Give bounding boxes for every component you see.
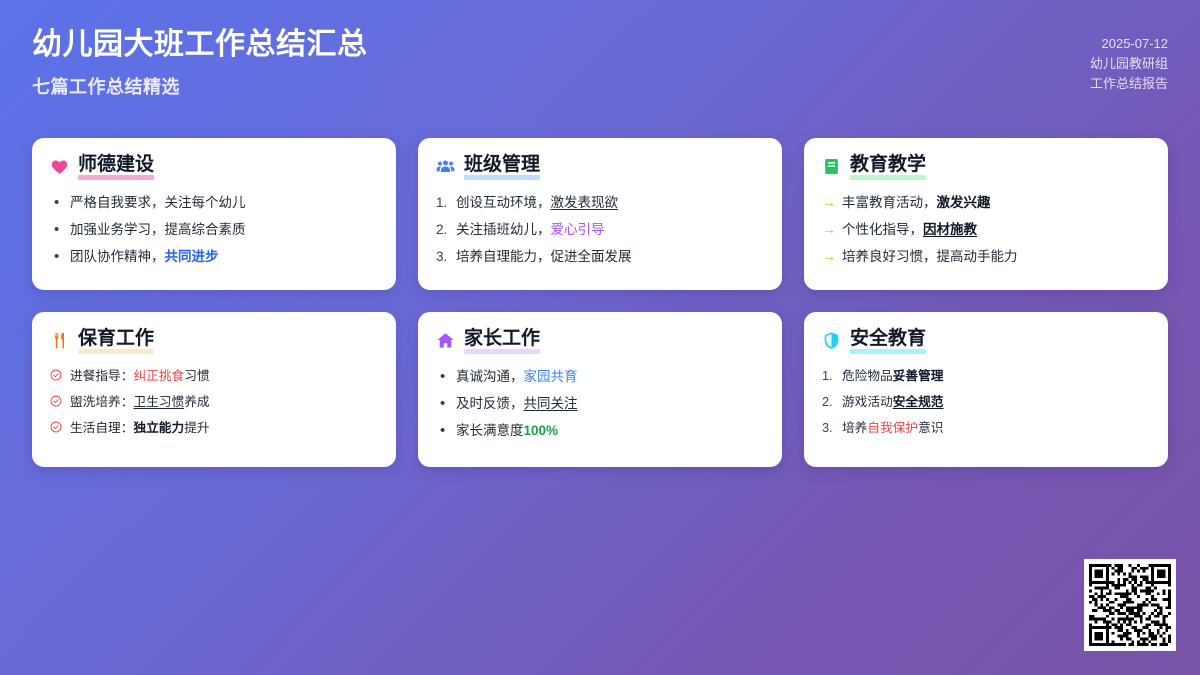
card-title: 教育教学 <box>850 154 926 178</box>
card-header: 师德建设 <box>50 154 378 178</box>
card-item-list: 1.危险物品妥善管理2.游戏活动安全规范3.培养自我保护意识 <box>822 363 1150 441</box>
list-item: 1.危险物品妥善管理 <box>822 363 1150 389</box>
card-class-management[interactable]: 班级管理1.创设互动环境，激发表现欲2.关注插班幼儿，爱心引导3.培养自理能力，… <box>418 138 782 290</box>
card-teacher-ethics[interactable]: 师德建设•严格自我要求，关注每个幼儿•加强业务学习，提高综合素质•团队协作精神，… <box>32 138 396 290</box>
list-item-text: 团队协作精神，共同进步 <box>70 243 378 270</box>
list-item-marker: • <box>436 390 456 417</box>
page-subtitle: 七篇工作总结精选 <box>32 72 368 102</box>
card-title: 师德建设 <box>78 154 154 178</box>
list-item-text: 及时反馈，共同关注 <box>456 390 764 417</box>
list-item: •家长满意度100% <box>436 417 764 444</box>
card-item-list: •真诚沟通，家园共育•及时反馈，共同关注•家长满意度100% <box>436 363 764 444</box>
list-item: 进餐指导：纠正挑食习惯 <box>50 363 378 389</box>
list-item: •加强业务学习，提高综合素质 <box>50 216 378 243</box>
list-item-marker: 3. <box>822 415 842 441</box>
list-item-text: 家长满意度100% <box>456 417 764 444</box>
list-item-marker: • <box>436 417 456 444</box>
list-item: •严格自我要求，关注每个幼儿 <box>50 189 378 216</box>
list-item-text: 游戏活动安全规范 <box>842 389 1150 415</box>
card-education-teaching[interactable]: 教育教学→丰富教育活动，激发兴趣→个性化指导，因材施教→培养良好习惯，提高动手能… <box>804 138 1168 290</box>
list-item: 盥洗培养：卫生习惯养成 <box>50 389 378 415</box>
people-group-icon <box>436 157 455 176</box>
list-item-marker: • <box>50 189 70 216</box>
card-item-list: •严格自我要求，关注每个幼儿•加强业务学习，提高综合素质•团队协作精神，共同进步 <box>50 189 378 270</box>
list-item: →个性化指导，因材施教 <box>822 216 1150 243</box>
shield-icon <box>822 331 841 350</box>
list-item: →丰富教育活动，激发兴趣 <box>822 189 1150 216</box>
card-header: 班级管理 <box>436 154 764 178</box>
header-title-block: 幼儿园大班工作总结汇总 七篇工作总结精选 <box>32 24 368 102</box>
home-icon <box>436 331 455 350</box>
list-item-marker: • <box>50 243 70 270</box>
card-item-list: 进餐指导：纠正挑食习惯盥洗培养：卫生习惯养成生活自理：独立能力提升 <box>50 363 378 441</box>
card-title: 保育工作 <box>78 328 154 352</box>
card-safety-education[interactable]: 安全教育1.危险物品妥善管理2.游戏活动安全规范3.培养自我保护意识 <box>804 312 1168 467</box>
heart-icon <box>50 157 69 176</box>
list-item-text: 培养良好习惯，提高动手能力 <box>842 243 1150 270</box>
list-item-text: 生活自理：独立能力提升 <box>70 415 378 441</box>
card-header: 家长工作 <box>436 328 764 352</box>
list-item: 2.关注插班幼儿，爱心引导 <box>436 216 764 243</box>
card-item-list: →丰富教育活动，激发兴趣→个性化指导，因材施教→培养良好习惯，提高动手能力 <box>822 189 1150 270</box>
list-item-text: 关注插班幼儿，爱心引导 <box>456 216 764 243</box>
list-item-marker: → <box>822 243 842 270</box>
list-item-marker: → <box>822 189 842 216</box>
book-icon <box>822 157 841 176</box>
list-item-marker: 1. <box>436 189 456 216</box>
list-item: →培养良好习惯，提高动手能力 <box>822 243 1150 270</box>
card-header: 保育工作 <box>50 328 378 352</box>
list-item-text: 丰富教育活动，激发兴趣 <box>842 189 1150 216</box>
list-item-text: 盥洗培养：卫生习惯养成 <box>70 389 378 415</box>
fork-knife-icon <box>50 331 69 350</box>
list-item: •及时反馈，共同关注 <box>436 390 764 417</box>
card-header: 安全教育 <box>822 328 1150 352</box>
list-item-marker: 3. <box>436 243 456 270</box>
card-childcare-work[interactable]: 保育工作进餐指导：纠正挑食习惯盥洗培养：卫生习惯养成生活自理：独立能力提升 <box>32 312 396 467</box>
list-item: 2.游戏活动安全规范 <box>822 389 1150 415</box>
list-item-marker <box>50 415 70 441</box>
list-item: 3.培养自我保护意识 <box>822 415 1150 441</box>
list-item: 3.培养自理能力，促进全面发展 <box>436 243 764 270</box>
card-header: 教育教学 <box>822 154 1150 178</box>
list-item-text: 危险物品妥善管理 <box>842 363 1150 389</box>
card-item-list: 1.创设互动环境，激发表现欲2.关注插班幼儿，爱心引导3.培养自理能力，促进全面… <box>436 189 764 270</box>
meta-date: 2025-07-12 <box>1102 34 1169 54</box>
list-item: •团队协作精神，共同进步 <box>50 243 378 270</box>
card-title: 安全教育 <box>850 328 926 352</box>
list-item-text: 培养自我保护意识 <box>842 415 1150 441</box>
qr-code-image <box>1089 564 1171 646</box>
card-title: 班级管理 <box>464 154 540 178</box>
list-item-text: 真诚沟通，家园共育 <box>456 363 764 390</box>
list-item: 1.创设互动环境，激发表现欲 <box>436 189 764 216</box>
list-item-marker: • <box>436 363 456 390</box>
list-item-marker: → <box>822 216 842 243</box>
list-item-marker <box>50 389 70 415</box>
list-item-marker: 2. <box>436 216 456 243</box>
list-item-marker: 2. <box>822 389 842 415</box>
header-meta-block: 2025-07-12 幼儿园教研组 工作总结报告 <box>1090 24 1168 94</box>
card-title: 家长工作 <box>464 328 540 352</box>
list-item-marker <box>50 363 70 389</box>
meta-doc-type: 工作总结报告 <box>1090 74 1168 94</box>
page-title: 幼儿园大班工作总结汇总 <box>32 24 368 66</box>
list-item-text: 培养自理能力，促进全面发展 <box>456 243 764 270</box>
list-item-text: 严格自我要求，关注每个幼儿 <box>70 189 378 216</box>
list-item: 生活自理：独立能力提升 <box>50 415 378 441</box>
list-item-text: 进餐指导：纠正挑食习惯 <box>70 363 378 389</box>
list-item-marker: • <box>50 216 70 243</box>
list-item-text: 创设互动环境，激发表现欲 <box>456 189 764 216</box>
card-parent-work[interactable]: 家长工作•真诚沟通，家园共育•及时反馈，共同关注•家长满意度100% <box>418 312 782 467</box>
list-item-text: 个性化指导，因材施教 <box>842 216 1150 243</box>
list-item-marker: 1. <box>822 363 842 389</box>
page-header: 幼儿园大班工作总结汇总 七篇工作总结精选 2025-07-12 幼儿园教研组 工… <box>0 0 1200 122</box>
qr-code[interactable] <box>1084 559 1176 651</box>
summary-card-grid: 师德建设•严格自我要求，关注每个幼儿•加强业务学习，提高综合素质•团队协作精神，… <box>32 138 1168 467</box>
list-item: •真诚沟通，家园共育 <box>436 363 764 390</box>
list-item-text: 加强业务学习，提高综合素质 <box>70 216 378 243</box>
meta-organization: 幼儿园教研组 <box>1090 54 1168 74</box>
